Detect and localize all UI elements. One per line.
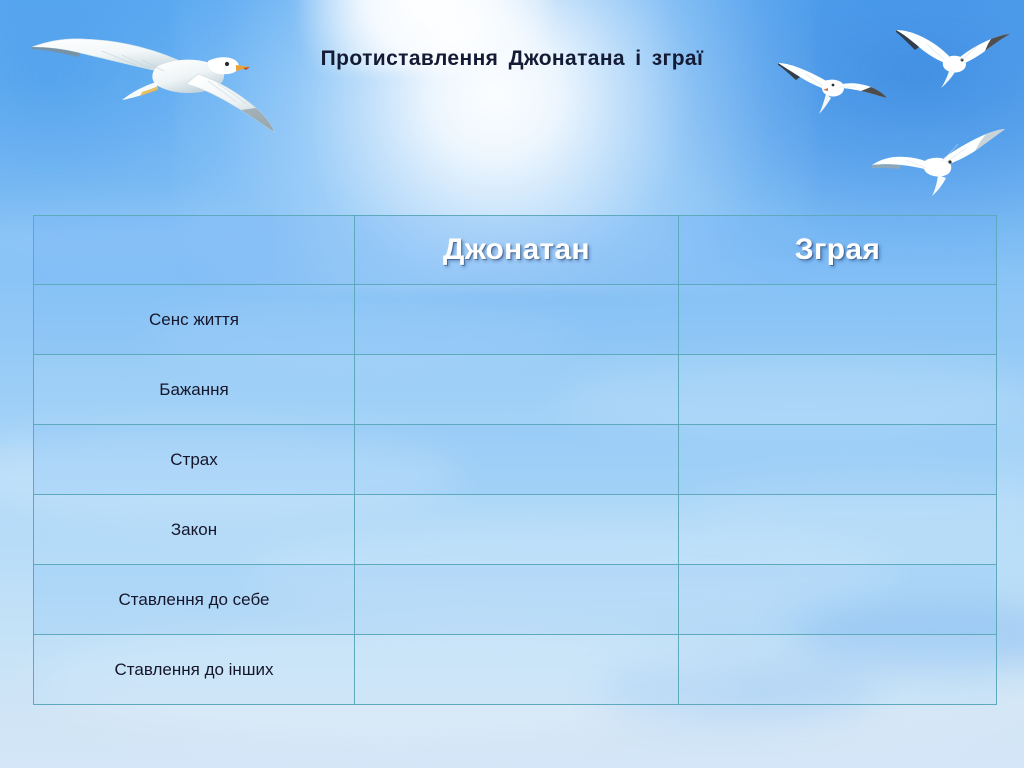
table-header-row: Джонатан Зграя [34, 216, 997, 285]
column-header-jonathan-label: Джонатан [355, 233, 678, 267]
cell-flock[interactable] [679, 565, 997, 635]
row-label-cell: Страх [34, 425, 355, 495]
cell-flock-value [679, 319, 996, 320]
table-body: Сенс життя Бажання [34, 285, 997, 705]
cell-jonathan[interactable] [355, 285, 679, 355]
cell-jonathan[interactable] [355, 495, 679, 565]
cell-flock-value [679, 529, 996, 530]
cell-jonathan[interactable] [355, 425, 679, 495]
table-row: Закон [34, 495, 997, 565]
table-corner-cell [34, 216, 355, 285]
column-header-flock-label: Зграя [679, 233, 996, 267]
table-row: Ставлення до себе [34, 565, 997, 635]
row-label-cell: Закон [34, 495, 355, 565]
table-row: Страх [34, 425, 997, 495]
column-header-flock: Зграя [679, 216, 997, 285]
row-label-strakh: Страх [34, 449, 354, 470]
cell-jonathan-value [355, 459, 678, 460]
row-label-cell: Ставлення до інших [34, 635, 355, 705]
cell-jonathan-value [355, 669, 678, 670]
row-label-stavlennya-do-sebe: Ставлення до себе [34, 589, 354, 610]
cell-flock-value [679, 459, 996, 460]
cell-jonathan[interactable] [355, 635, 679, 705]
cell-jonathan[interactable] [355, 355, 679, 425]
row-label-cell: Бажання [34, 355, 355, 425]
row-label-cell: Сенс життя [34, 285, 355, 355]
corner-blank [34, 250, 354, 251]
slide-canvas: Протиставлення Джонатана і зграї Джоната… [0, 0, 1024, 768]
cell-flock[interactable] [679, 285, 997, 355]
column-header-jonathan: Джонатан [355, 216, 679, 285]
cell-flock[interactable] [679, 425, 997, 495]
row-label-bazhannya: Бажання [34, 379, 354, 400]
row-label-zakon: Закон [34, 519, 354, 540]
table-row: Ставлення до інших [34, 635, 997, 705]
cell-flock[interactable] [679, 495, 997, 565]
cell-jonathan-value [355, 389, 678, 390]
row-label-cell: Ставлення до себе [34, 565, 355, 635]
row-label-stavlennya-do-inshykh: Ставлення до інших [34, 659, 354, 680]
page-title: Протиставлення Джонатана і зграї [0, 47, 1024, 71]
cell-flock[interactable] [679, 635, 997, 705]
cell-flock-value [679, 599, 996, 600]
cell-jonathan-value [355, 319, 678, 320]
seagull-large-left-icon [22, 12, 284, 140]
table-header: Джонатан Зграя [34, 216, 997, 285]
cell-flock-value [679, 669, 996, 670]
cell-jonathan-value [355, 529, 678, 530]
comparison-table: Джонатан Зграя Сенс життя [33, 215, 997, 705]
cell-flock[interactable] [679, 355, 997, 425]
table-row: Сенс життя [34, 285, 997, 355]
table-row: Бажання [34, 355, 997, 425]
cell-jonathan-value [355, 599, 678, 600]
seagull-lower-right-icon [866, 118, 1006, 198]
row-label-sens-zhyttya: Сенс життя [34, 309, 354, 330]
cell-jonathan[interactable] [355, 565, 679, 635]
cell-flock-value [679, 389, 996, 390]
